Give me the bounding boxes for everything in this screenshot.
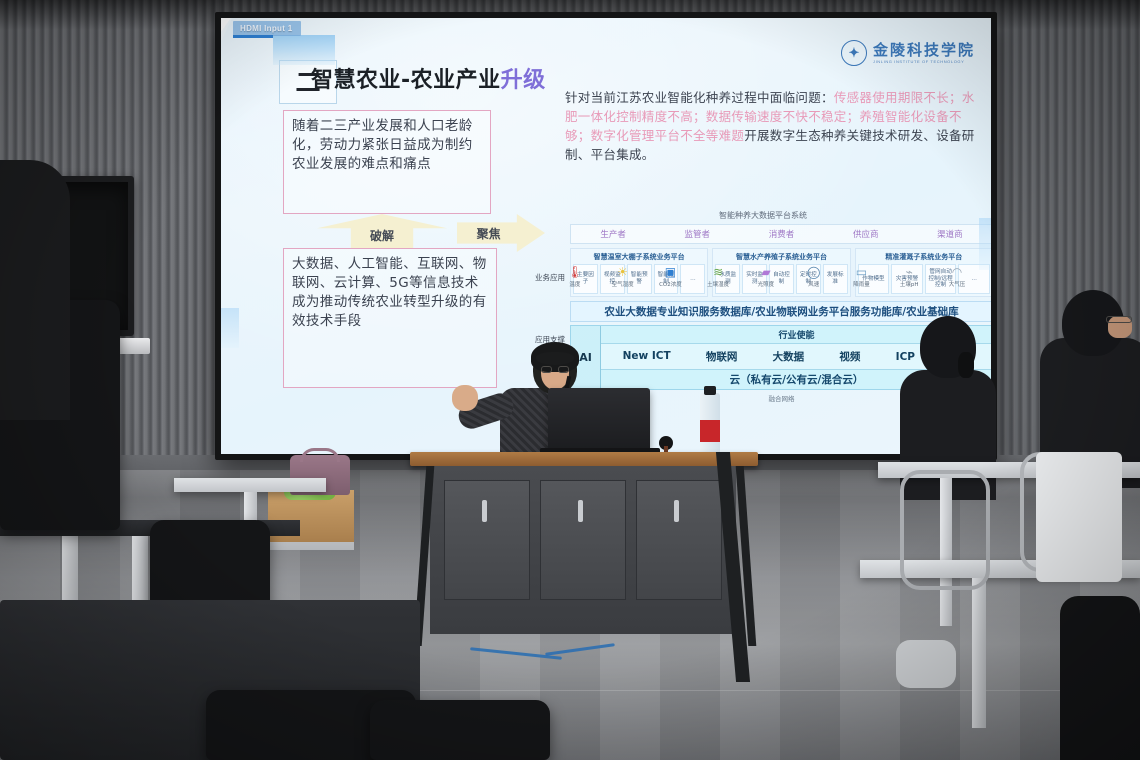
chair-back[interactable] [1036,452,1122,582]
sensor-label: 光照度 [748,280,784,288]
foreground-chair[interactable] [370,700,550,760]
sensor-item: ◠大气压 [939,264,975,288]
foreground-person-silhouette [0,160,70,420]
role-consumer: 消费者 [739,228,823,240]
soil-icon: ≋ [700,264,736,279]
paragraph-lead: 针对当前江苏农业智能化种养过程中面临问题： [565,90,834,105]
student-glasses-icon [1106,316,1132,323]
shoe [896,640,956,688]
text-box-top: 随着二三产业发展和人口老龄化，劳动力紧张日益成为制约农业发展的难点和痛点 [283,110,491,214]
sensor-item: ☀空气湿度 [605,264,641,288]
logo-icon: ✦ [841,40,867,66]
humidity-icon: ☀ [605,264,641,279]
chair-frame[interactable] [900,470,990,590]
logo-name-cn: 金陵科技学院 [873,43,975,58]
presenter-hand [452,385,478,411]
ph-icon: ⌁ [891,264,927,279]
text-box-top-content: 随着二三产业发展和人口老龄化，劳动力紧张日益成为制约农业发展的难点和痛点 [292,117,482,174]
role-regulator: 监管者 [655,228,739,240]
logo-name-en: JINLING INSTITUTE OF TECHNOLOGY [873,60,975,64]
podium-body [430,466,736,634]
text-box-bottom-content: 大数据、人工智能、互联网、物联网、云计算、5G等信息技术成为推动传统农业转型升级… [292,255,488,332]
screen-left-tab [221,308,239,348]
tech-item-new-ict: New ICT [623,351,671,362]
podium-panel [636,480,722,600]
screen-right-tab [979,218,991,270]
platform-irrigation-title: 精准灌溉子系统业务平台 [858,251,990,264]
co2-icon: ▣ [652,264,688,279]
sensor-label: 土壤湿度 [700,280,736,288]
arrow-up-breakthrough: 破解 [317,214,447,248]
sensor-label: 风速 [796,280,832,288]
wind-icon: ◯ [796,264,832,279]
bottle-label [700,420,720,442]
hdmi-underline [233,35,273,38]
pressure-icon: ◠ [939,264,975,279]
slide-title-main: 智慧农业-农业产业 [311,68,501,93]
role-supplier: 供应商 [824,228,908,240]
sensor-item: ▰光照度 [748,264,784,288]
sensor-label: 温度 [557,280,593,288]
hdmi-input-badge: HDMI Input 1 [233,21,301,36]
tech-item-icp: ICP [896,351,915,363]
classroom-scene: HDMI Input 1 二 智慧农业-农业产业升级 ✦ 金陵科技学院 JINL… [0,0,1140,760]
platform-aquaculture-title: 智慧水产养殖子系统业务平台 [715,251,847,264]
sensor-label: 大气压 [939,280,975,288]
podium-handle [578,500,583,522]
slide-title-accent: 升级 [501,68,546,93]
laptop[interactable] [548,388,650,452]
podium-handle [674,500,679,522]
sensor-item: ▭降雨量 [843,264,879,288]
desk-leg [972,578,986,728]
bottle-cap [704,386,716,395]
podium-panel [444,480,530,600]
foreground-chair[interactable] [1060,596,1140,760]
slide-paragraph: 针对当前江苏农业智能化种养过程中面临问题：传感器使用期限不长；水肥一体化控制精度… [565,88,985,164]
tech-item-video: 视频 [839,349,860,364]
sensor-item: ≋土壤湿度 [700,264,736,288]
stakeholder-roles-row: 生产者 监管者 消费者 供应商 渠道商 [570,224,991,244]
sensor-label: 空气湿度 [605,280,641,288]
arrow-right-label: 聚焦 [457,225,520,242]
student-desk [174,478,326,492]
glasses-icon [541,366,569,373]
thermometer-icon: 🌡 [557,264,593,279]
tech-item-bigdata: 大数据 [773,349,805,364]
role-producer: 生产者 [571,228,655,240]
handbag-handle [300,448,340,462]
sensor-label: 土壤pH [891,280,927,288]
sensor-item: ▣CO2浓度 [652,264,688,288]
text-box-bottom: 大数据、人工智能、互联网、物联网、云计算、5G等信息技术成为推动传统农业转型升级… [283,248,497,388]
sensor-item: ⌁土壤pH [891,264,927,288]
tech-item-iot: 物联网 [706,349,738,364]
arrow-up-label: 破解 [317,227,447,244]
database-row: 农业大数据专业知识服务数据库/农业物联网业务平台服务功能库/农业基础库 [570,301,991,322]
arrow-right-focus: 聚焦 [457,214,545,252]
presenter-fringe [536,352,574,365]
sensor-item: 🌡温度 [557,264,593,288]
podium-panel [540,480,626,600]
sensor-label: CO2浓度 [652,280,688,288]
sensor-icon-strip: 🌡温度 ☀空气湿度 ▣CO2浓度 ≋土壤湿度 ▰光照度 ◯风速 ▭降雨量 ⌁土壤… [551,264,981,288]
hdmi-gradient-block [273,35,335,65]
rain-icon: ▭ [843,264,879,279]
podium-handle [482,500,487,522]
diagram-title: 智能种养大数据平台系统 [533,210,991,221]
institution-logo: ✦ 金陵科技学院 JINLING INSTITUTE OF TECHNOLOGY [841,40,975,66]
platform-greenhouse-title: 智慧温室大棚子系统业务平台 [573,251,705,264]
light-icon: ▰ [748,264,784,279]
podium-top [410,452,758,466]
sensor-item: ◯风速 [796,264,832,288]
sensor-label: 降雨量 [843,280,879,288]
student-ponytail [958,352,974,378]
